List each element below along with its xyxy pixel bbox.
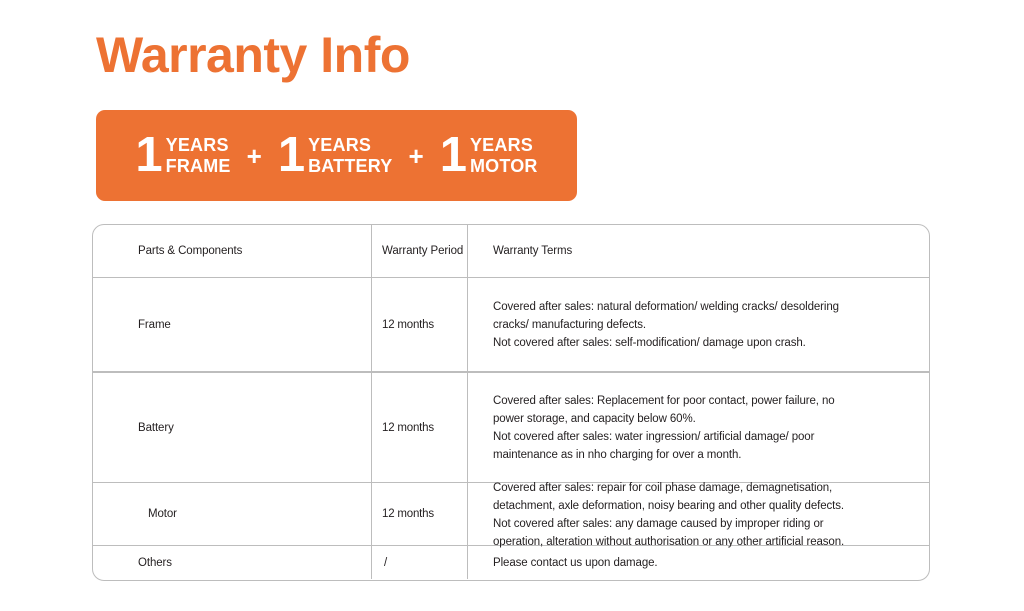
period-label-battery: 12 months <box>372 422 434 434</box>
period-label-frame: 12 months <box>372 319 434 331</box>
page-title: Warranty Info <box>96 24 410 86</box>
table-row: Motor 12 months Covered after sales: rep… <box>93 483 929 545</box>
header-cell-terms: Warranty Terms <box>468 225 929 277</box>
banner-unit-label: YEARS <box>166 135 231 156</box>
terms-text-motor: Covered after sales: repair for coil pha… <box>468 477 862 551</box>
plus-icon: + <box>393 143 440 169</box>
cell-part-name: Frame <box>93 278 372 371</box>
terms-line: cracks/ manufacturing defects. <box>493 316 839 334</box>
warranty-info-page: Warranty Info 1 YEARS FRAME + 1 YEARS BA… <box>0 0 1024 611</box>
header-cell-parts: Parts & Components <box>93 225 372 277</box>
cell-warranty-period: / <box>372 546 468 579</box>
table-row: Frame 12 months Covered after sales: nat… <box>93 278 929 373</box>
banner-part-label: MOTOR <box>470 156 538 177</box>
header-cell-period: Warranty Period <box>372 225 468 277</box>
terms-line: detachment, axle deformation, noisy bear… <box>493 497 844 515</box>
cell-warranty-period: 12 months <box>372 373 468 482</box>
cell-warranty-terms: Please contact us upon damage. <box>468 546 929 579</box>
period-label-others: / <box>372 557 387 569</box>
banner-part-label: BATTERY <box>308 156 392 177</box>
terms-line: Not covered after sales: water ingressio… <box>493 428 835 446</box>
terms-text-frame: Covered after sales: natural deformation… <box>468 298 857 352</box>
cell-warranty-terms: Covered after sales: Replacement for poo… <box>468 373 929 482</box>
terms-line: Covered after sales: natural deformation… <box>493 298 839 316</box>
banner-unit-label: YEARS <box>308 135 392 156</box>
terms-line: Covered after sales: repair for coil pha… <box>493 479 844 497</box>
warranty-summary-banner: 1 YEARS FRAME + 1 YEARS BATTERY + 1 YEAR… <box>96 110 577 201</box>
terms-line: power storage, and capacity below 60%. <box>493 410 835 428</box>
banner-years-number: 1 <box>440 131 470 180</box>
part-label-motor: Motor <box>93 508 177 520</box>
terms-line: Not covered after sales: any damage caus… <box>493 515 844 533</box>
cell-warranty-period: 12 months <box>372 278 468 371</box>
terms-line: Please contact us upon damage. <box>493 554 658 572</box>
banner-item-battery: 1 YEARS BATTERY <box>278 131 393 180</box>
cell-warranty-period: 12 months <box>372 483 468 545</box>
cell-part-name: Others <box>93 546 372 579</box>
cell-warranty-terms: Covered after sales: repair for coil pha… <box>468 483 929 545</box>
terms-text-others: Please contact us upon damage. <box>468 554 676 572</box>
table-row: Others / Please contact us upon damage. <box>93 545 929 579</box>
banner-items: 1 YEARS FRAME + 1 YEARS BATTERY + 1 YEAR… <box>135 131 537 180</box>
cell-part-name: Motor <box>93 483 372 545</box>
cell-part-name: Battery <box>93 373 372 482</box>
banner-labels: YEARS BATTERY <box>308 135 392 177</box>
banner-years-number: 1 <box>135 131 165 180</box>
terms-text-battery: Covered after sales: Replacement for poo… <box>468 392 853 464</box>
part-label-frame: Frame <box>93 319 171 331</box>
table-header-row: Parts & Components Warranty Period Warra… <box>93 225 929 278</box>
plus-icon: + <box>231 143 278 169</box>
warranty-table: Parts & Components Warranty Period Warra… <box>92 224 930 581</box>
column-header-period: Warranty Period <box>372 245 463 257</box>
banner-unit-label: YEARS <box>470 135 538 156</box>
terms-line: maintenance as in nho charging for over … <box>493 446 835 464</box>
banner-labels: YEARS FRAME <box>166 135 231 177</box>
table-row: Battery 12 months Covered after sales: R… <box>93 373 929 483</box>
terms-line: Covered after sales: Replacement for poo… <box>493 392 835 410</box>
part-label-battery: Battery <box>93 422 174 434</box>
banner-item-motor: 1 YEARS MOTOR <box>440 131 538 180</box>
part-label-others: Others <box>93 557 172 569</box>
terms-line: Not covered after sales: self-modificati… <box>493 334 839 352</box>
column-header-parts: Parts & Components <box>93 245 242 257</box>
column-header-terms: Warranty Terms <box>468 245 572 257</box>
banner-years-number: 1 <box>278 131 308 180</box>
banner-item-frame: 1 YEARS FRAME <box>135 131 230 180</box>
cell-warranty-terms: Covered after sales: natural deformation… <box>468 278 929 371</box>
period-label-motor: 12 months <box>372 508 434 520</box>
banner-labels: YEARS MOTOR <box>470 135 538 177</box>
banner-part-label: FRAME <box>166 156 231 177</box>
